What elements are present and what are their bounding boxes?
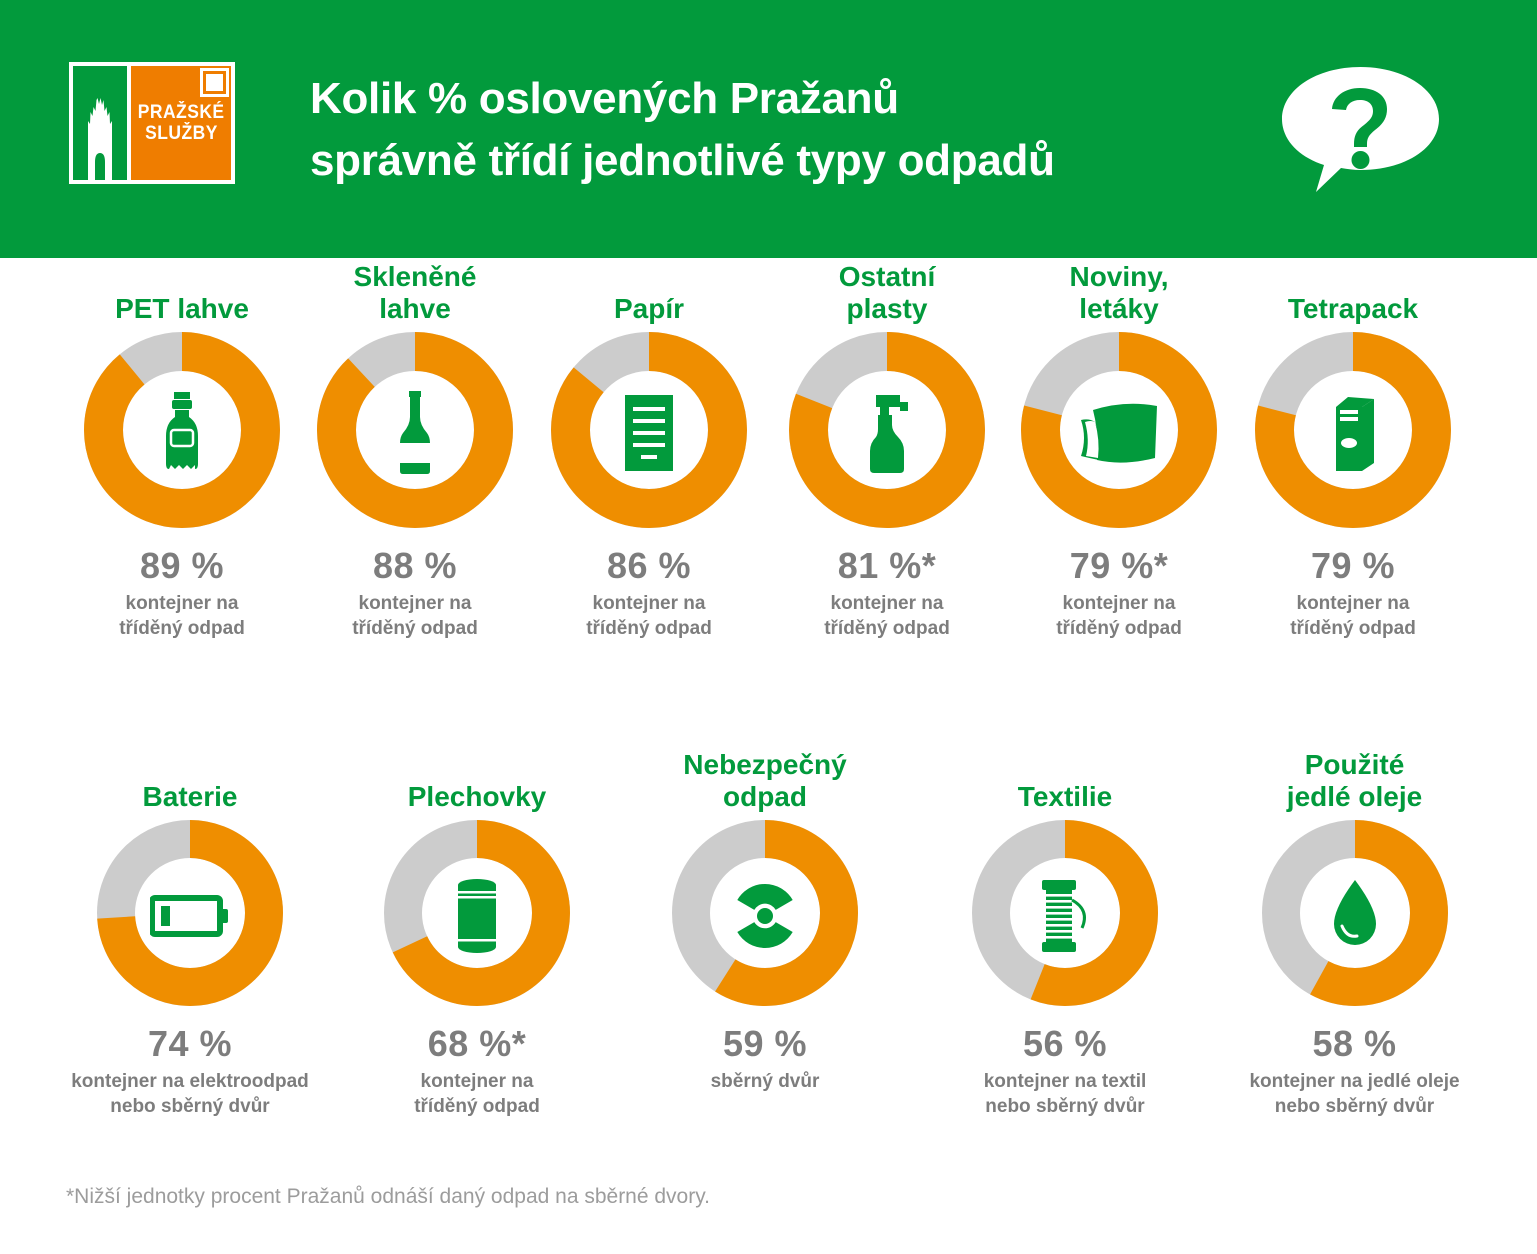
page-title-line-2: správně třídí jednotlivé typy odpadů bbox=[310, 130, 1260, 192]
stat-card-pet-lahve: PET lahve 89 % bbox=[57, 258, 307, 641]
thread-spool-icon bbox=[1032, 878, 1098, 954]
logo-corner-square bbox=[203, 71, 226, 94]
prague-tower-icon bbox=[83, 98, 117, 180]
newspaper-icon bbox=[1075, 398, 1163, 468]
page-title-line-1: Kolik % oslovených Pražanů bbox=[310, 68, 1260, 130]
stat-title: Skleněné lahve bbox=[290, 258, 540, 324]
stat-card-baterie: Baterie 74 % kontejner bbox=[60, 746, 320, 1119]
page-header: PRAŽSKÉ SLUŽBY Kolik % oslovených Pražan… bbox=[0, 0, 1537, 258]
stat-card-tetrapack: Tetrapack bbox=[1228, 258, 1478, 641]
stat-caption-line-2: nebo sběrný dvůr bbox=[1207, 1094, 1502, 1119]
stat-title-line-1: Tetrapack bbox=[1288, 293, 1418, 324]
stat-caption: sběrný dvůr bbox=[640, 1069, 890, 1094]
logo-wordmark-panel: PRAŽSKÉ SLUŽBY bbox=[131, 66, 231, 180]
stat-caption: kontejner na tříděný odpad bbox=[1228, 591, 1478, 641]
carton-icon bbox=[1322, 393, 1384, 473]
stat-caption-line-1: kontejner na bbox=[352, 1069, 602, 1094]
stat-title: Použité jedlé oleje bbox=[1207, 746, 1502, 812]
stat-percentage: 79 % bbox=[1228, 545, 1478, 587]
stat-caption: kontejner na elektroodpad nebo sběrný dv… bbox=[60, 1069, 320, 1119]
stat-percentage: 81 %* bbox=[762, 545, 1012, 587]
donut-wrap bbox=[1207, 820, 1502, 1011]
stat-percentage: 58 % bbox=[1207, 1023, 1502, 1065]
donut-chart bbox=[97, 820, 283, 1011]
donut-chart bbox=[1262, 820, 1448, 1011]
stat-percentage: 88 % bbox=[290, 545, 540, 587]
stat-title: Noviny, letáky bbox=[994, 258, 1244, 324]
stat-title: Tetrapack bbox=[1228, 258, 1478, 324]
stat-title-line-1: Skleněné bbox=[354, 261, 477, 292]
donut-wrap bbox=[352, 820, 602, 1011]
stat-caption-line-1: kontejner na bbox=[290, 591, 540, 616]
stat-title-line-1: Baterie bbox=[143, 781, 238, 812]
stat-caption-line-1: kontejner na jedlé oleje bbox=[1207, 1069, 1502, 1094]
stat-title: Baterie bbox=[60, 746, 320, 812]
donut-chart bbox=[1021, 332, 1217, 533]
stat-title-line-2: letáky bbox=[1079, 293, 1158, 324]
stat-title: Textilie bbox=[920, 746, 1210, 812]
stat-caption-line-1: kontejner na bbox=[762, 591, 1012, 616]
prazske-sluzby-logo: PRAŽSKÉ SLUŽBY bbox=[69, 62, 235, 184]
donut-chart bbox=[789, 332, 985, 533]
stat-caption: kontejner na textil nebo sběrný dvůr bbox=[920, 1069, 1210, 1119]
donut-chart bbox=[84, 332, 280, 533]
stat-caption: kontejner na tříděný odpad bbox=[762, 591, 1012, 641]
donut-chart bbox=[1255, 332, 1451, 533]
donut-grid: PET lahve 89 % bbox=[0, 258, 1537, 1166]
donut-wrap bbox=[640, 820, 890, 1011]
stat-title-line-1: Plechovky bbox=[408, 781, 547, 812]
stat-percentage: 56 % bbox=[920, 1023, 1210, 1065]
stat-percentage: 79 %* bbox=[994, 545, 1244, 587]
stat-percentage: 89 % bbox=[57, 545, 307, 587]
stat-caption-line-1: kontejner na bbox=[524, 591, 774, 616]
donut-wrap bbox=[994, 332, 1244, 533]
stat-caption: kontejner na tříděný odpad bbox=[57, 591, 307, 641]
donut-row-2: Baterie 74 % kontejner bbox=[0, 746, 1537, 1166]
stat-title-line-1: Nebezpečný bbox=[683, 749, 846, 780]
logo-text-sluzby: SLUŽBY bbox=[145, 124, 218, 144]
question-mark-speech-bubble-icon bbox=[1279, 64, 1442, 195]
stat-caption-line-2: tříděný odpad bbox=[290, 616, 540, 641]
stat-caption-line-2: tříděný odpad bbox=[762, 616, 1012, 641]
stat-caption: kontejner na tříděný odpad bbox=[290, 591, 540, 641]
stat-caption: kontejner na tříděný odpad bbox=[994, 591, 1244, 641]
stat-card-papir: Papír bbox=[524, 258, 774, 641]
stat-title: Plechovky bbox=[352, 746, 602, 812]
stat-title-line-1: Použité bbox=[1305, 749, 1405, 780]
stat-card-ostatni-plasty: Ostatní plasty 81 %* kontejner na bbox=[762, 258, 1012, 641]
stat-caption-line-1: kontejner na elektroodpad bbox=[60, 1069, 320, 1094]
donut-wrap bbox=[57, 332, 307, 533]
pet-bottle-icon bbox=[151, 392, 213, 474]
stat-percentage: 74 % bbox=[60, 1023, 320, 1065]
stat-caption-line-2: nebo sběrný dvůr bbox=[920, 1094, 1210, 1119]
stat-caption: kontejner na jedlé oleje nebo sběrný dvů… bbox=[1207, 1069, 1502, 1119]
donut-row-1: PET lahve 89 % bbox=[0, 258, 1537, 708]
stat-title-line-2: odpad bbox=[723, 781, 807, 812]
stat-title: Ostatní plasty bbox=[762, 258, 1012, 324]
hazard-radioactive-icon bbox=[729, 880, 801, 952]
tin-can-icon bbox=[452, 877, 502, 955]
donut-chart bbox=[551, 332, 747, 533]
stat-caption-line-1: kontejner na bbox=[1228, 591, 1478, 616]
donut-wrap bbox=[290, 332, 540, 533]
donut-chart bbox=[672, 820, 858, 1011]
donut-wrap bbox=[1228, 332, 1478, 533]
stat-title-line-2: plasty bbox=[847, 293, 928, 324]
battery-icon bbox=[150, 894, 230, 938]
donut-chart bbox=[972, 820, 1158, 1011]
stat-caption: kontejner na tříděný odpad bbox=[524, 591, 774, 641]
stat-caption-line-2: nebo sběrný dvůr bbox=[60, 1094, 320, 1119]
donut-chart bbox=[317, 332, 513, 533]
stat-caption-line-1: kontejner na bbox=[57, 591, 307, 616]
glass-bottle-icon bbox=[393, 391, 437, 475]
footnote-text: *Nižší jednotky procent Pražanů odnáší d… bbox=[66, 1185, 710, 1209]
stat-card-nebezpecny-odpad: Nebezpečný odpad 59 % bbox=[640, 746, 890, 1094]
stat-title: Papír bbox=[524, 258, 774, 324]
stat-title-line-1: Ostatní bbox=[839, 261, 935, 292]
donut-wrap bbox=[60, 820, 320, 1011]
stat-percentage: 86 % bbox=[524, 545, 774, 587]
logo-emblem-panel bbox=[73, 66, 131, 180]
stat-title-line-1: PET lahve bbox=[115, 293, 249, 324]
donut-wrap bbox=[920, 820, 1210, 1011]
stat-caption-line-2: tříděný odpad bbox=[994, 616, 1244, 641]
stat-title-line-1: Textilie bbox=[1018, 781, 1112, 812]
stat-caption-line-2: tříděný odpad bbox=[1228, 616, 1478, 641]
stat-caption-line-2: tříděný odpad bbox=[352, 1094, 602, 1119]
stat-title: Nebezpečný odpad bbox=[640, 746, 890, 812]
stat-title-line-2: lahve bbox=[379, 293, 451, 324]
stat-caption-line-1: kontejner na bbox=[994, 591, 1244, 616]
paper-document-icon bbox=[619, 395, 679, 471]
donut-chart bbox=[384, 820, 570, 1011]
stat-title-line-2: jedlé oleje bbox=[1287, 781, 1422, 812]
stat-card-sklenene-lahve: Skleněné lahve 88 % bbox=[290, 258, 540, 641]
stat-caption-line-2: tříděný odpad bbox=[57, 616, 307, 641]
donut-wrap bbox=[524, 332, 774, 533]
stat-title-line-1: Papír bbox=[614, 293, 684, 324]
stat-card-textilie: Textilie bbox=[920, 746, 1210, 1119]
stat-caption-line-1: sběrný dvůr bbox=[640, 1069, 890, 1094]
oil-drop-icon bbox=[1326, 878, 1384, 954]
spray-bottle-icon bbox=[856, 391, 918, 475]
page-title: Kolik % oslovených Pražanů správně třídí… bbox=[310, 68, 1260, 193]
stat-title: PET lahve bbox=[57, 258, 307, 324]
logo-text-prazske: PRAŽSKÉ bbox=[138, 103, 225, 123]
donut-wrap bbox=[762, 332, 1012, 533]
stat-percentage: 68 %* bbox=[352, 1023, 602, 1065]
stat-caption: kontejner na tříděný odpad bbox=[352, 1069, 602, 1119]
stat-percentage: 59 % bbox=[640, 1023, 890, 1065]
stat-card-noviny-letaky: Noviny, letáky 79 %* ko bbox=[994, 258, 1244, 641]
stat-title-line-1: Noviny, bbox=[1069, 261, 1168, 292]
stat-card-pouzite-jedle-oleje: Použité jedlé oleje 58 % kontejner n bbox=[1207, 746, 1502, 1119]
stat-caption-line-2: tříděný odpad bbox=[524, 616, 774, 641]
stat-caption-line-1: kontejner na textil bbox=[920, 1069, 1210, 1094]
stat-card-plechovky: Plechovky bbox=[352, 746, 602, 1119]
